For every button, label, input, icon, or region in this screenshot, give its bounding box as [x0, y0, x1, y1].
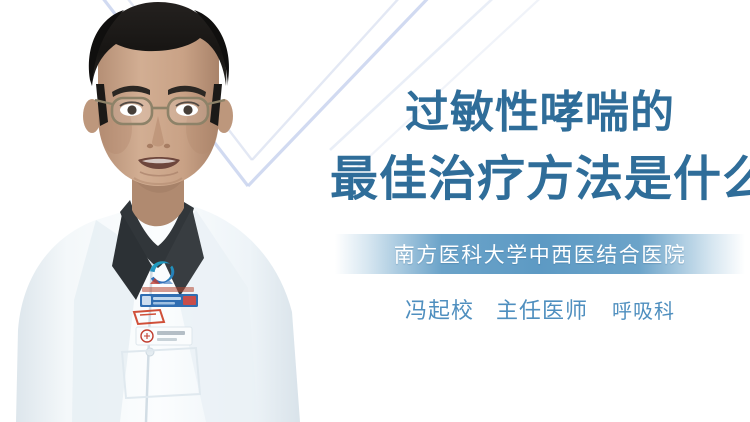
page-title-line-1: 过敏性哮喘的 — [330, 88, 750, 138]
doctor-credentials: 冯起校 主任医师 呼吸科 — [330, 293, 750, 325]
hospital-name-banner: 南方医科大学中西医结合医院 — [335, 234, 745, 274]
promo-banner: 过敏性哮喘的 最佳治疗方法是什么 南方医科大学中西医结合医院 冯起校 主任医师 … — [0, 0, 750, 422]
page-title-line-2: 最佳治疗方法是什么 — [330, 152, 750, 208]
doctor-portrait — [0, 0, 330, 422]
hospital-name-label: 南方医科大学中西医结合医院 — [394, 239, 687, 269]
text-column: 过敏性哮喘的 最佳治疗方法是什么 南方医科大学中西医结合医院 冯起校 主任医师 … — [330, 0, 750, 422]
doctor-department-label: 呼吸科 — [612, 295, 675, 324]
doctor-title-label: 主任医师 — [496, 293, 588, 325]
doctor-name-label: 冯起校 — [405, 293, 474, 325]
